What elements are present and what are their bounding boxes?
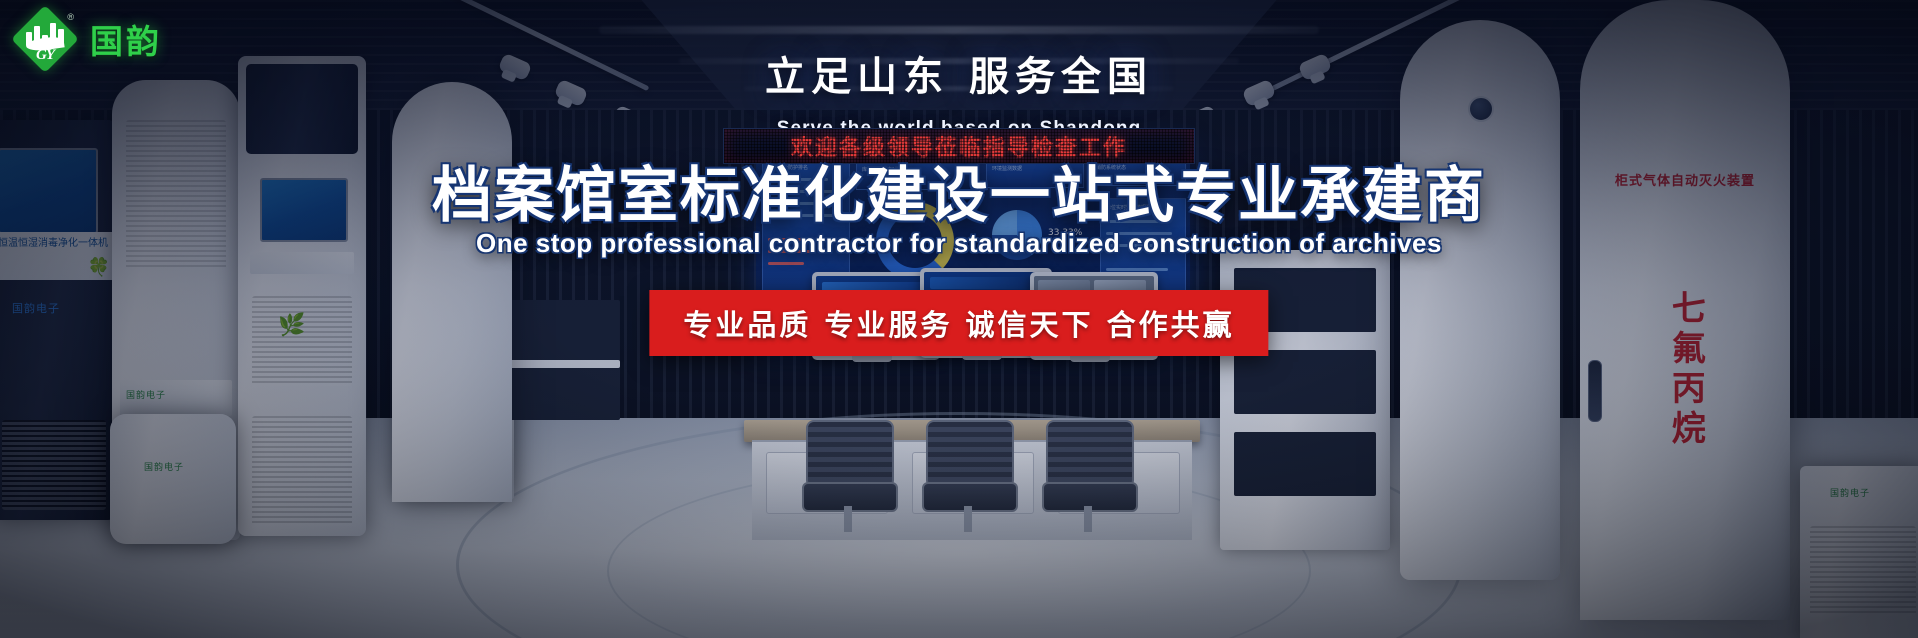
slogan-text: 专业品质 专业服务 诚信天下 合作共赢 <box>683 308 1234 342</box>
page-subtitle: One stop professional contractor for sta… <box>0 228 1918 259</box>
tagline-cn: 立足山东 服务全国 <box>0 44 1918 102</box>
text-overlay: GY ® 国韵 立足山东 服务全国 Serve the world based … <box>0 0 1918 638</box>
hero-banner: 单位安全防护排名 库房温湿度实时监测 环境监测数据 33.33% 消防系统状态 … <box>0 0 1918 638</box>
page-title: 档案馆室标准化建设一站式专业承建商 <box>0 147 1918 234</box>
slogan-banner: 专业品质 专业服务 诚信天下 合作共赢 <box>649 290 1268 356</box>
registered-mark-icon: ® <box>67 12 74 22</box>
